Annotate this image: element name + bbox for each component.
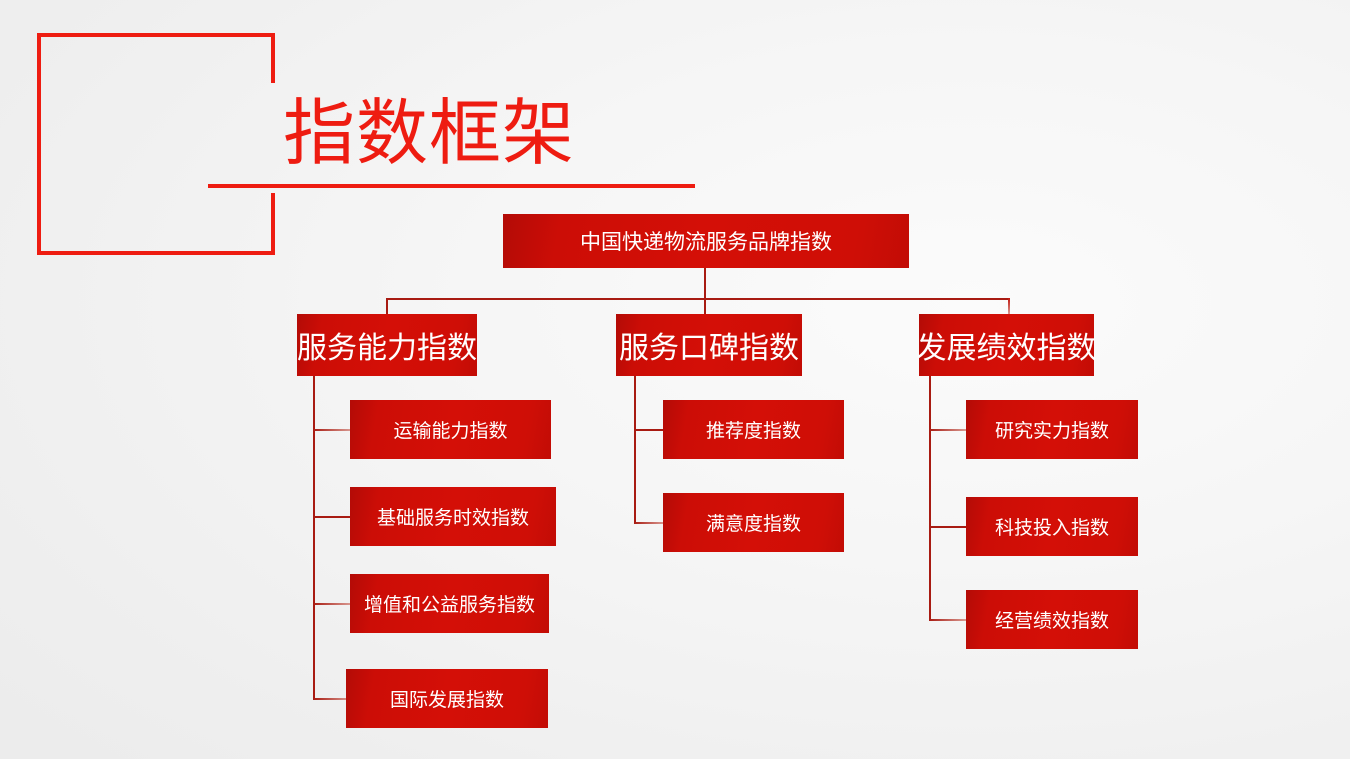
- slide-canvas: 指数框架 中国快递物流服务品牌指数 服务能力指数 服务口碑指数 发展绩效指数 运…: [0, 0, 1350, 759]
- node-branch-service-reputation[interactable]: 服务口碑指数: [616, 314, 802, 376]
- node-leaf-tech-investment[interactable]: 科技投入指数: [966, 497, 1138, 556]
- connector-branch-1-child-3: [313, 603, 351, 605]
- connector-branch-3-child-2: [929, 526, 966, 528]
- connector-branch-2-spine: [634, 376, 636, 523]
- node-branch-service-capability[interactable]: 服务能力指数: [297, 314, 477, 376]
- node-leaf-international-development[interactable]: 国际发展指数: [346, 669, 548, 728]
- bracket-right-upper-edge: [271, 33, 275, 83]
- page-title: 指数框架: [283, 92, 575, 174]
- connector-branch-3-spine: [929, 376, 931, 620]
- connector-root-stem: [704, 268, 706, 300]
- bracket-bottom-edge: [37, 251, 275, 255]
- connector-branch-3-drop: [1008, 298, 1010, 314]
- node-branch-development-performance[interactable]: 发展绩效指数: [919, 314, 1094, 376]
- connector-root-bus: [386, 298, 1010, 300]
- decorative-bracket: [37, 33, 275, 255]
- node-leaf-satisfaction[interactable]: 满意度指数: [663, 493, 844, 552]
- connector-branch-2-drop: [704, 298, 706, 314]
- bracket-top-edge: [37, 33, 275, 37]
- connector-branch-2-child-2: [634, 522, 664, 524]
- connector-branch-1-spine: [313, 376, 315, 699]
- connector-branch-1-drop: [386, 298, 388, 314]
- bracket-left-edge: [37, 33, 41, 255]
- node-root[interactable]: 中国快递物流服务品牌指数: [503, 214, 909, 268]
- node-leaf-transport-capacity[interactable]: 运输能力指数: [350, 400, 551, 459]
- node-leaf-operating-performance[interactable]: 经营绩效指数: [966, 590, 1138, 649]
- connector-branch-1-child-2: [313, 516, 351, 518]
- connector-branch-2-child-1: [634, 429, 664, 431]
- node-leaf-recommendation[interactable]: 推荐度指数: [663, 400, 844, 459]
- connector-branch-3-child-1: [929, 429, 966, 431]
- connector-branch-3-child-3: [929, 619, 966, 621]
- node-leaf-value-added-public-service[interactable]: 增值和公益服务指数: [350, 574, 549, 633]
- title-underline: [208, 184, 695, 188]
- node-leaf-basic-service-timeliness[interactable]: 基础服务时效指数: [350, 487, 556, 546]
- connector-branch-1-child-1: [313, 429, 351, 431]
- bracket-right-lower-edge: [271, 193, 275, 255]
- node-leaf-research-strength[interactable]: 研究实力指数: [966, 400, 1138, 459]
